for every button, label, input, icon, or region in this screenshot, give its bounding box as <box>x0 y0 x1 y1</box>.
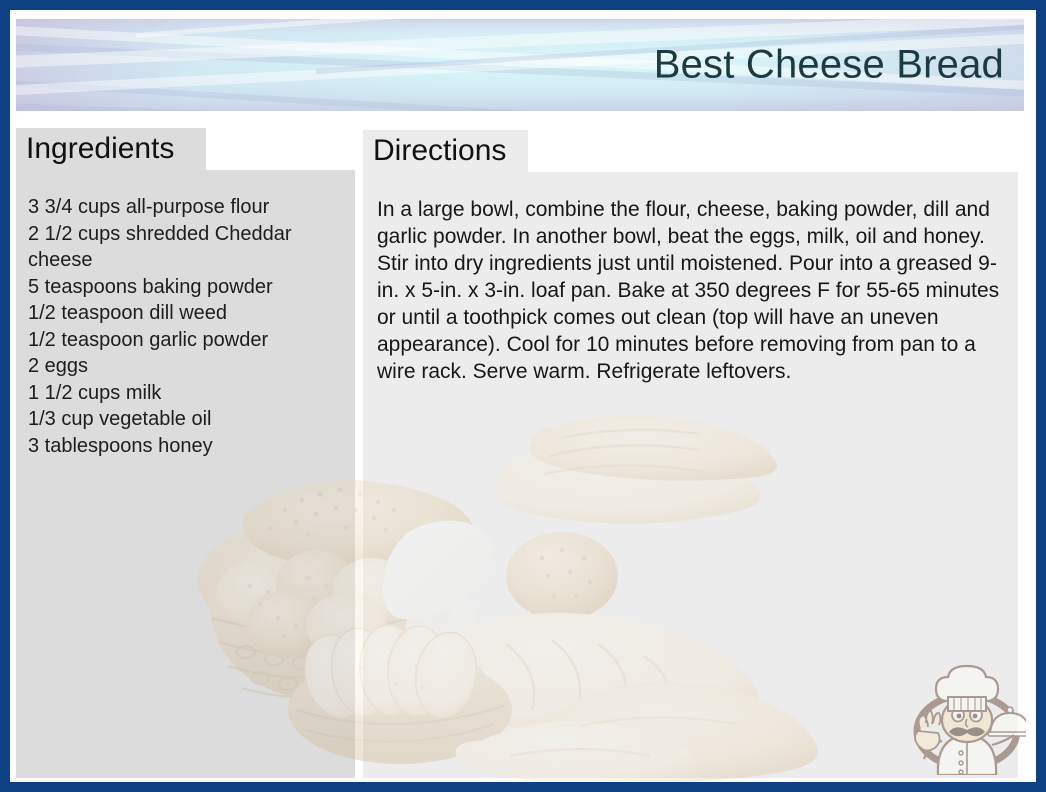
page-title: Best Cheese Bread <box>654 43 1004 88</box>
section-header-directions: Directions <box>363 130 528 172</box>
list-item: 1 1/2 cups milk <box>28 380 343 407</box>
title-banner: Best Cheese Bread <box>16 19 1024 111</box>
directions-text: In a large bowl, combine the flour, chee… <box>377 196 1004 385</box>
list-item: 2 eggs <box>28 353 343 380</box>
list-item: 3 tablespoons honey <box>28 433 343 460</box>
banner-ribbon-6 <box>16 101 1024 111</box>
ingredient-list: 3 3/4 cups all-purpose flour 2 1/2 cups … <box>28 194 343 459</box>
list-item: 5 teaspoons baking powder <box>28 274 343 301</box>
card-inner-frame: Best Cheese Bread Ingredients Directions… <box>10 10 1036 782</box>
ingredients-panel: 3 3/4 cups all-purpose flour 2 1/2 cups … <box>16 170 355 778</box>
list-item: 1/2 teaspoon dill weed <box>28 300 343 327</box>
list-item: 1/2 teaspoon garlic powder <box>28 327 343 354</box>
section-header-ingredients: Ingredients <box>16 128 206 170</box>
directions-panel: In a large bowl, combine the flour, chee… <box>363 172 1018 778</box>
recipe-card: Best Cheese Bread Ingredients Directions… <box>0 0 1046 792</box>
list-item: 3 3/4 cups all-purpose flour <box>28 194 343 221</box>
list-item: 2 1/2 cups shredded Cheddar cheese <box>28 221 343 274</box>
list-item: 1/3 cup vegetable oil <box>28 406 343 433</box>
